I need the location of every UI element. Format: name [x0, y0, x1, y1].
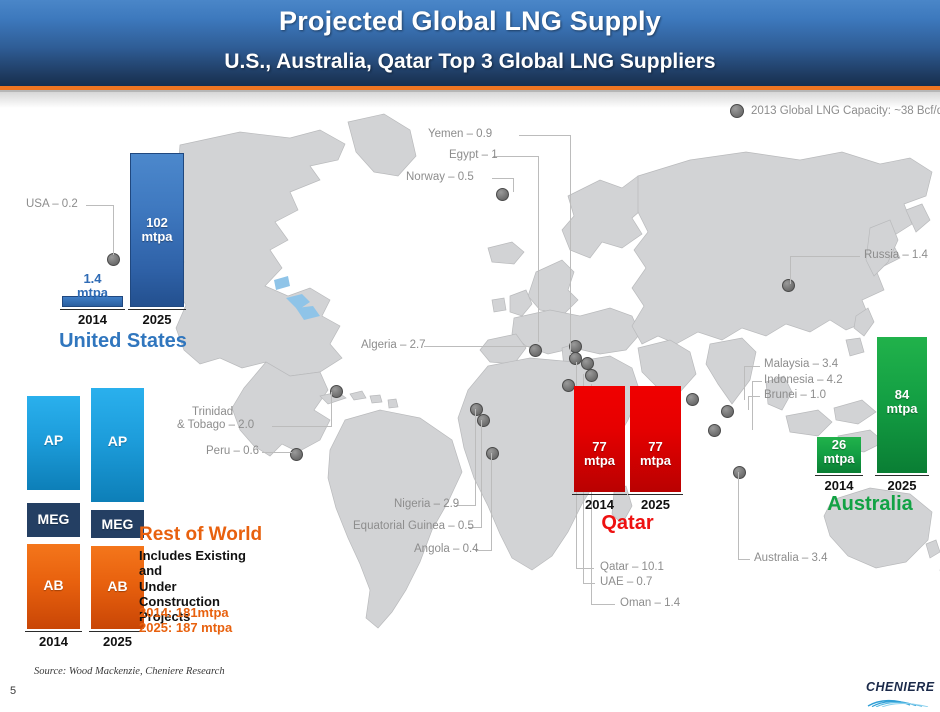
qatar-unit-2014: mtpa: [584, 453, 615, 468]
map-dot-australia: [733, 466, 746, 479]
map-dot-malaysia: [686, 393, 699, 406]
us-value-2025: 102: [146, 215, 168, 230]
qatar-year-2025: 2025: [628, 497, 683, 512]
row-seg-label-ab-2014: AB: [27, 577, 80, 593]
source-note: Source: Wood Mackenzie, Cheniere Researc…: [34, 666, 225, 677]
map-dot-norway: [496, 188, 509, 201]
row-seg-label-meg-2014: MEG: [27, 511, 80, 527]
map-dot-angola: [486, 447, 499, 460]
row-seg-label-ap-2014: AP: [27, 432, 80, 448]
leader-peru: [262, 452, 292, 453]
map-label-qatar: Qatar – 10.1: [600, 561, 664, 573]
us-chart-title: United States: [55, 330, 191, 353]
us-unit-2025: mtpa: [141, 229, 172, 244]
map-label-peru: Peru – 0.6: [206, 445, 259, 457]
slide-header-banner: Projected Global LNG Supply U.S., Austra…: [0, 0, 940, 86]
us-axis-rule-2014: [60, 309, 125, 310]
australia-axis-rule-2014: [815, 475, 863, 476]
map-dot-brunei: [721, 405, 734, 418]
leader-australia-m-v: [738, 472, 739, 559]
qatar-bar-2014-value: 77 mtpa: [574, 440, 625, 469]
australia-axis-rule-2025: [875, 475, 929, 476]
us-year-2014: 2014: [60, 312, 125, 327]
map-legend: 2013 Global LNG Capacity: ~38 Bcf/d: [730, 104, 940, 118]
row-seg-label-meg-2025: MEG: [91, 516, 144, 532]
leader-trinidad: [272, 426, 332, 427]
map-dot-russia: [782, 279, 795, 292]
leader-trinidad-v: [331, 392, 332, 426]
row-bar-2014-ap: AP: [27, 396, 80, 490]
cheniere-logo: CHENIERE: [866, 680, 932, 702]
leader-nigeria-v: [475, 409, 476, 505]
page-title: Projected Global LNG Supply: [0, 6, 940, 37]
map-dot-uae: [585, 369, 598, 382]
australia-unit-2014: mtpa: [823, 451, 854, 466]
us-axis-rule-2025: [128, 309, 186, 310]
leader-malaysia: [744, 366, 760, 367]
qatar-value-2014: 77: [592, 439, 606, 454]
page-number: 5: [10, 685, 16, 697]
leader-brunei-v: [748, 396, 749, 410]
row-bar-2014-meg: MEG: [27, 503, 80, 537]
map-label-usa: USA – 0.2: [26, 198, 78, 210]
leader-egypt: [493, 156, 539, 157]
map-label-egypt: Egypt – 1: [449, 149, 498, 161]
us-bar-2014-value: 1.4 mtpa: [62, 272, 123, 301]
legend-circle-icon: [730, 104, 744, 118]
row-total-2025: 2025: 187 mtpa: [139, 620, 232, 635]
qatar-chart-title: Qatar: [570, 512, 685, 535]
map-label-malaysia: Malaysia – 3.4: [764, 358, 838, 370]
leader-usa-v: [113, 205, 114, 255]
row-axis-rule-2025: [89, 631, 146, 632]
qatar-axis-rule-2025: [628, 494, 683, 495]
leader-yemen: [519, 135, 571, 136]
map-label-algeria: Algeria – 2.7: [361, 339, 426, 351]
australia-chart-title: Australia: [810, 493, 930, 516]
legend-label: 2013 Global LNG Capacity: ~38 Bcf/d: [751, 105, 940, 117]
row-axis-rule-2014: [25, 631, 82, 632]
australia-unit-2025: mtpa: [886, 401, 917, 416]
map-label-brunei: Brunei – 1.0: [764, 389, 826, 401]
leader-norway: [492, 178, 514, 179]
row-bar-2025-ap: AP: [91, 388, 144, 502]
australia-year-2025: 2025: [875, 478, 929, 493]
map-dot-indonesia: [708, 424, 721, 437]
qatar-value-2025: 77: [648, 439, 662, 454]
leader-uae: [583, 583, 595, 584]
qatar-year-2014: 2014: [572, 497, 627, 512]
map-label-angola: Angola – 0.4: [414, 543, 479, 555]
us-unit-2014: mtpa: [77, 285, 108, 300]
australia-bar-2014-value: 26 mtpa: [817, 438, 861, 467]
qatar-axis-rule-2014: [572, 494, 627, 495]
map-label-yemen: Yemen – 0.9: [428, 128, 492, 140]
row-year-2025: 2025: [89, 634, 146, 649]
leader-egypt-v: [538, 156, 539, 342]
row-bar-2014-ab: AB: [27, 544, 80, 629]
map-dot-peru: [290, 448, 303, 461]
australia-value-2014: 26: [832, 437, 846, 452]
qatar-unit-2025: mtpa: [640, 453, 671, 468]
map-label-indonesia: Indonesia – 4.2: [764, 374, 843, 386]
map-label-australia: Australia – 3.4: [754, 552, 828, 564]
map-label-trinidad-2: & Tobago – 2.0: [177, 419, 254, 431]
row-seg-label-ab-2025: AB: [91, 578, 144, 594]
leader-australia-m: [738, 559, 750, 560]
qatar-bar-2025-value: 77 mtpa: [630, 440, 681, 469]
page-subtitle: U.S., Australia, Qatar Top 3 Global LNG …: [0, 50, 940, 74]
map-label-uae: UAE – 0.7: [600, 576, 652, 588]
leader-usa: [86, 205, 114, 206]
us-bar-2025-value: 102 mtpa: [130, 216, 184, 245]
row-year-2014: 2014: [25, 634, 82, 649]
logo-wordmark: CHENIERE: [866, 680, 932, 694]
leader-indonesia-v: [752, 381, 753, 430]
row-bar-2025-ab: AB: [91, 546, 144, 629]
leader-algeria: [424, 346, 530, 347]
map-dot-algeria: [529, 344, 542, 357]
australia-bar-2025-value: 84 mtpa: [877, 388, 927, 417]
map-label-eqguinea: Equatorial Guinea – 0.5: [353, 520, 474, 532]
australia-value-2025: 84: [895, 387, 909, 402]
map-label-norway: Norway – 0.5: [406, 171, 474, 183]
us-value-2014: 1.4: [83, 271, 101, 286]
map-label-nigeria: Nigeria – 2.9: [394, 498, 459, 510]
leader-angola-v: [491, 453, 492, 550]
row-bar-2025-meg: MEG: [91, 510, 144, 538]
map-dot-eqguinea: [477, 414, 490, 427]
row-chart-title: Rest of World: [139, 524, 262, 546]
map-label-oman: Oman – 1.4: [620, 597, 680, 609]
map-label-trinidad: Trinidad: [192, 406, 233, 418]
leader-russia-v: [790, 256, 791, 284]
map-label-russia: Russia – 1.4: [864, 249, 928, 261]
leader-yemen-v: [570, 135, 571, 355]
leader-norway-v: [513, 178, 514, 192]
leader-russia: [790, 256, 860, 257]
leader-oman: [591, 604, 615, 605]
leader-eqguinea-v: [481, 420, 482, 527]
logo-waves-icon: [866, 698, 930, 707]
leader-brunei: [748, 396, 760, 397]
row-seg-label-ap-2025: AP: [91, 433, 144, 449]
leader-indonesia: [752, 381, 762, 382]
us-year-2025: 2025: [128, 312, 186, 327]
australia-year-2014: 2014: [815, 478, 863, 493]
leader-malaysia-v: [744, 366, 745, 400]
row-total-2014: 2014: 181mtpa: [139, 605, 229, 620]
